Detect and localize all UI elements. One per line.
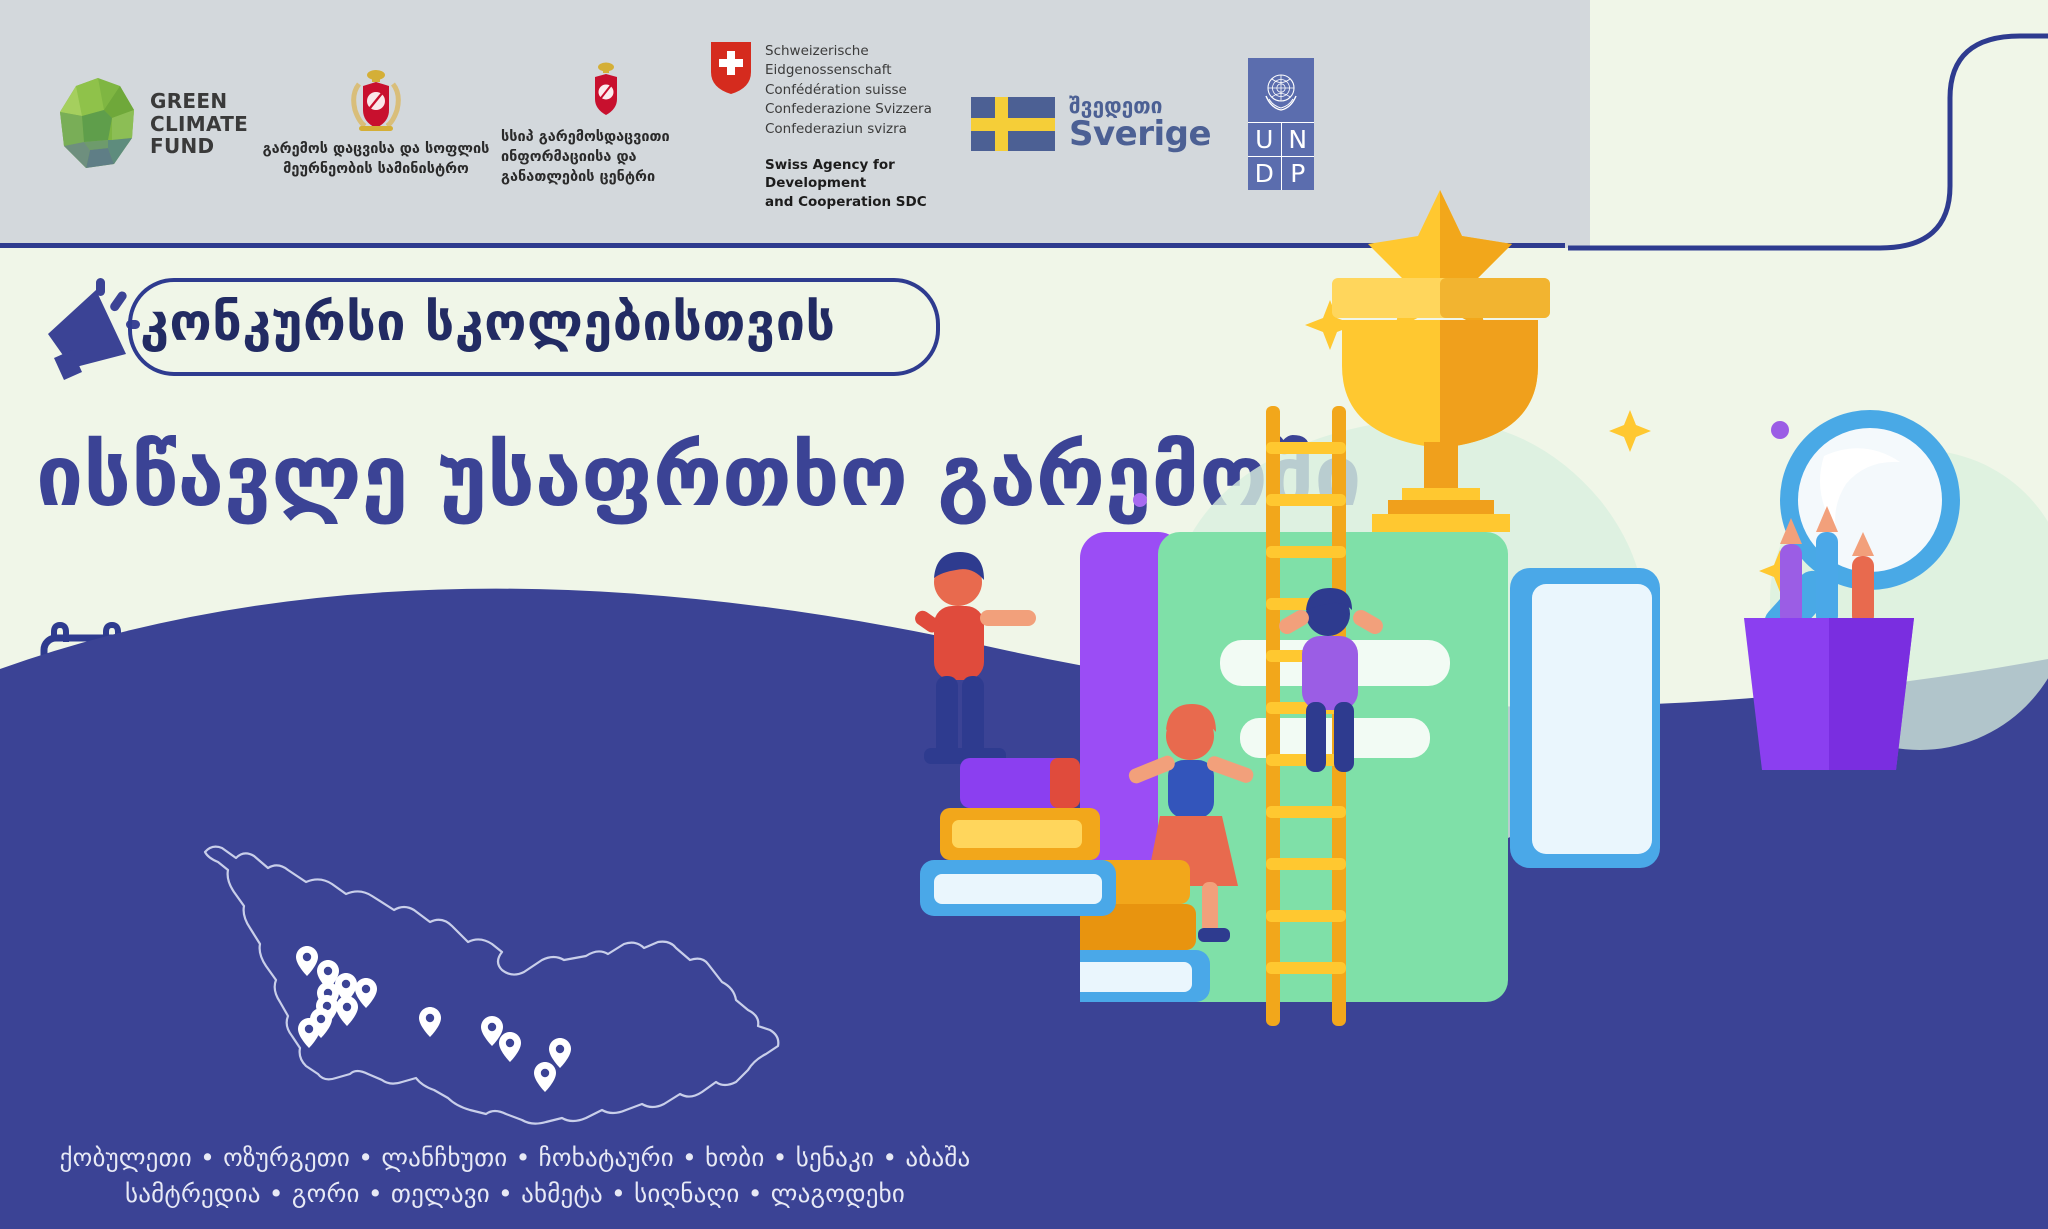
logo-environmental-info-centre: სსიპ გარემოსდაცვითი ინფორმაციისა და განა… [501,61,711,188]
location-pin-icon [419,1007,441,1037]
sdc-agency-line-1: Swiss Agency for Development [765,156,971,194]
eiec-caption: სსიპ გარემოსდაცვითი ინფორმაციისა და განა… [501,127,711,188]
sdc-agency-name: Swiss Agency for Development and Coopera… [765,156,971,213]
sdc-line-de: Schweizerische Eidgenossenschaft [765,42,971,81]
students-trophy-books-illustration [1080,170,2048,1170]
sdc-line-fr: Confédération suisse [765,81,971,101]
gcf-line-3: FUND [150,135,248,157]
un-emblem-icon [1248,58,1314,122]
georgia-coat-of-arms-icon [345,68,407,134]
sweden-caption-en: Sverige [1069,117,1211,153]
location-pin-icon [499,1032,521,1062]
logo-sweden-sverige: შვედეთი Sverige [971,96,1221,153]
ministry-caption-line-1: გარემოს დაცვისა და სოფლის [263,140,490,160]
city-list-line-2: სამტრედია • გორი • თელავი • ახმეტა • სიღ… [0,1176,1030,1212]
georgia-map-outline [150,830,830,1130]
undp-letter-u: U [1248,122,1281,156]
logo-green-climate-fund: GREEN CLIMATE FUND [56,76,251,172]
location-pin-icon [296,946,318,976]
eiec-caption-line-1: სსიპ გარემოსდაცვითი [501,127,711,147]
sdc-line-rm: Confederaziun svizra [765,120,971,140]
gcf-wordmark: GREEN CLIMATE FUND [150,90,248,157]
georgia-map [150,830,830,1130]
student-figure-standing [912,552,1036,764]
location-pin-icon [534,1062,556,1092]
city-list: ქობულეთი • ოზურგეთი • ლანჩხუთი • ჩოხატაუ… [0,1140,1030,1211]
banner: GREEN CLIMATE FUND გარემოს დაცვისა და სო… [0,0,2048,1229]
gcf-gem-icon [56,76,140,172]
undp-letter-n: N [1281,122,1315,156]
sweden-flag-icon [971,97,1055,151]
logo-swiss-sdc: Schweizerische Eidgenossenschaft Confédé… [711,36,971,212]
ministry-caption-line-2: მეურნეობის სამინისტრო [263,160,490,180]
badge-label: კონკურსი სკოლებისთვის [140,288,930,358]
location-pin-icon [355,978,377,1008]
location-pin-icon [336,996,358,1026]
books-and-standing-student [900,540,1220,960]
sdc-line-it: Confederazione Svizzera [765,100,971,120]
eiec-caption-line-3: განათლების ცენტრი [501,167,711,187]
georgia-coat-of-arms-icon [588,61,624,121]
city-list-line-1: ქობულეთი • ოზურგეთი • ლანჩხუთი • ჩოხატაუ… [0,1140,1030,1176]
eiec-caption-line-2: ინფორმაციისა და [501,147,711,167]
ministry-caption: გარემოს დაცვისა და სოფლის მეურნეობის სამ… [263,140,490,179]
location-pin-icon [298,1018,320,1048]
swiss-cross-shield-icon [711,42,751,94]
sdc-agency-line-2: and Cooperation SDC [765,193,971,212]
gcf-line-1: GREEN [150,90,248,112]
logo-ministry-of-environment: გარემოს დაცვისა და სოფლის მეურნეობის სამ… [251,68,501,179]
sdc-language-lines: Schweizerische Eidgenossenschaft Confédé… [765,42,971,140]
undp-letters-row-1: U N [1248,122,1314,156]
gcf-line-2: CLIMATE [150,113,248,135]
